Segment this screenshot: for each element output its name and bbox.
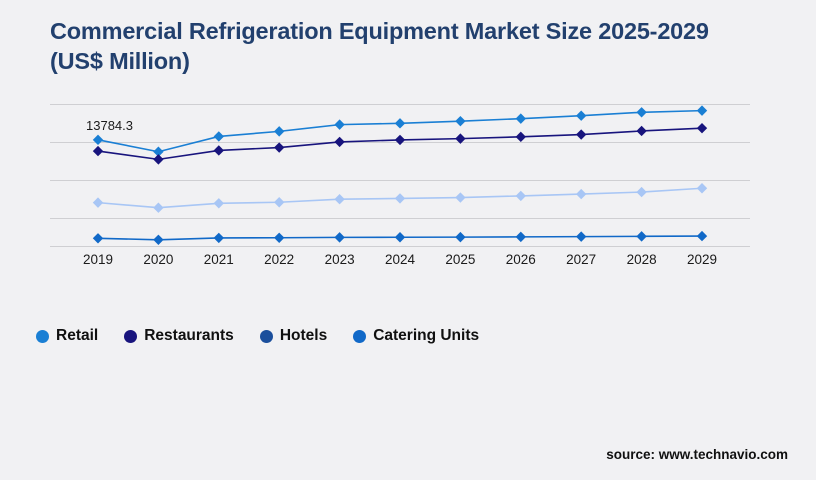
plot-area [50, 96, 750, 248]
series-marker [93, 233, 103, 243]
legend-swatch-icon [124, 330, 137, 343]
series-marker [636, 187, 646, 197]
series-line [98, 111, 702, 152]
series-marker [576, 111, 586, 121]
legend-swatch-icon [36, 330, 49, 343]
x-axis-labels: 2019202020212022202320242025202620272028… [50, 252, 750, 274]
series-marker [697, 105, 707, 115]
legend-label: Hotels [280, 327, 327, 345]
series-marker [93, 146, 103, 156]
series-marker [214, 131, 224, 141]
series-marker [93, 197, 103, 207]
series-marker [395, 232, 405, 242]
series-marker [153, 154, 163, 164]
legend-label: Retail [56, 327, 98, 345]
series-marker [274, 142, 284, 152]
series-marker [636, 126, 646, 136]
series-marker [214, 145, 224, 155]
legend-item[interactable]: Hotels [260, 327, 327, 345]
x-axis-tick-label: 2023 [310, 252, 370, 267]
series-marker [153, 235, 163, 245]
series-marker [697, 123, 707, 133]
series-marker [697, 183, 707, 193]
x-axis-tick-label: 2027 [551, 252, 611, 267]
plot-svg [50, 96, 750, 248]
series-marker [636, 107, 646, 117]
legend-label: Catering Units [373, 327, 479, 345]
x-axis-tick-label: 2024 [370, 252, 430, 267]
chart-legend: RetailRestaurantsHotelsCatering Units [36, 322, 479, 350]
x-axis-tick-label: 2019 [68, 252, 128, 267]
series-marker [576, 231, 586, 241]
x-axis-tick-label: 2020 [128, 252, 188, 267]
legend-item[interactable]: Restaurants [124, 327, 234, 345]
series-marker [516, 191, 526, 201]
legend-item[interactable]: Retail [36, 327, 98, 345]
series-marker [516, 232, 526, 242]
x-axis-tick-label: 2026 [491, 252, 551, 267]
series-marker [516, 113, 526, 123]
series-marker [274, 126, 284, 136]
series-marker [274, 233, 284, 243]
x-axis-tick-label: 2028 [612, 252, 672, 267]
series-marker [334, 194, 344, 204]
x-axis-tick-label: 2025 [430, 252, 490, 267]
series-marker [395, 193, 405, 203]
x-axis-tick-label: 2022 [249, 252, 309, 267]
series-marker [576, 129, 586, 139]
legend-label: Restaurants [144, 327, 234, 345]
x-axis-tick-label: 2021 [189, 252, 249, 267]
series-marker [636, 231, 646, 241]
series-marker [214, 198, 224, 208]
series-marker [455, 133, 465, 143]
series-marker [93, 135, 103, 145]
series-marker [214, 233, 224, 243]
legend-swatch-icon [260, 330, 273, 343]
series-marker [334, 137, 344, 147]
series-marker [395, 118, 405, 128]
series-marker [274, 197, 284, 207]
series-marker [516, 132, 526, 142]
series-marker [697, 231, 707, 241]
legend-item[interactable]: Catering Units [353, 327, 479, 345]
x-axis-tick-label: 2029 [672, 252, 732, 267]
legend-swatch-icon [353, 330, 366, 343]
series-marker [455, 232, 465, 242]
chart-title: Commercial Refrigeration Equipment Marke… [50, 16, 750, 76]
series-marker [153, 203, 163, 213]
chart-card: Commercial Refrigeration Equipment Marke… [0, 0, 816, 480]
series-marker [455, 192, 465, 202]
series-marker [576, 189, 586, 199]
series-marker [334, 232, 344, 242]
series-marker [334, 119, 344, 129]
series-marker [395, 135, 405, 145]
data-point-label: 13784.3 [86, 118, 133, 133]
source-attribution: source: www.technavio.com [606, 447, 788, 462]
series-marker [455, 116, 465, 126]
